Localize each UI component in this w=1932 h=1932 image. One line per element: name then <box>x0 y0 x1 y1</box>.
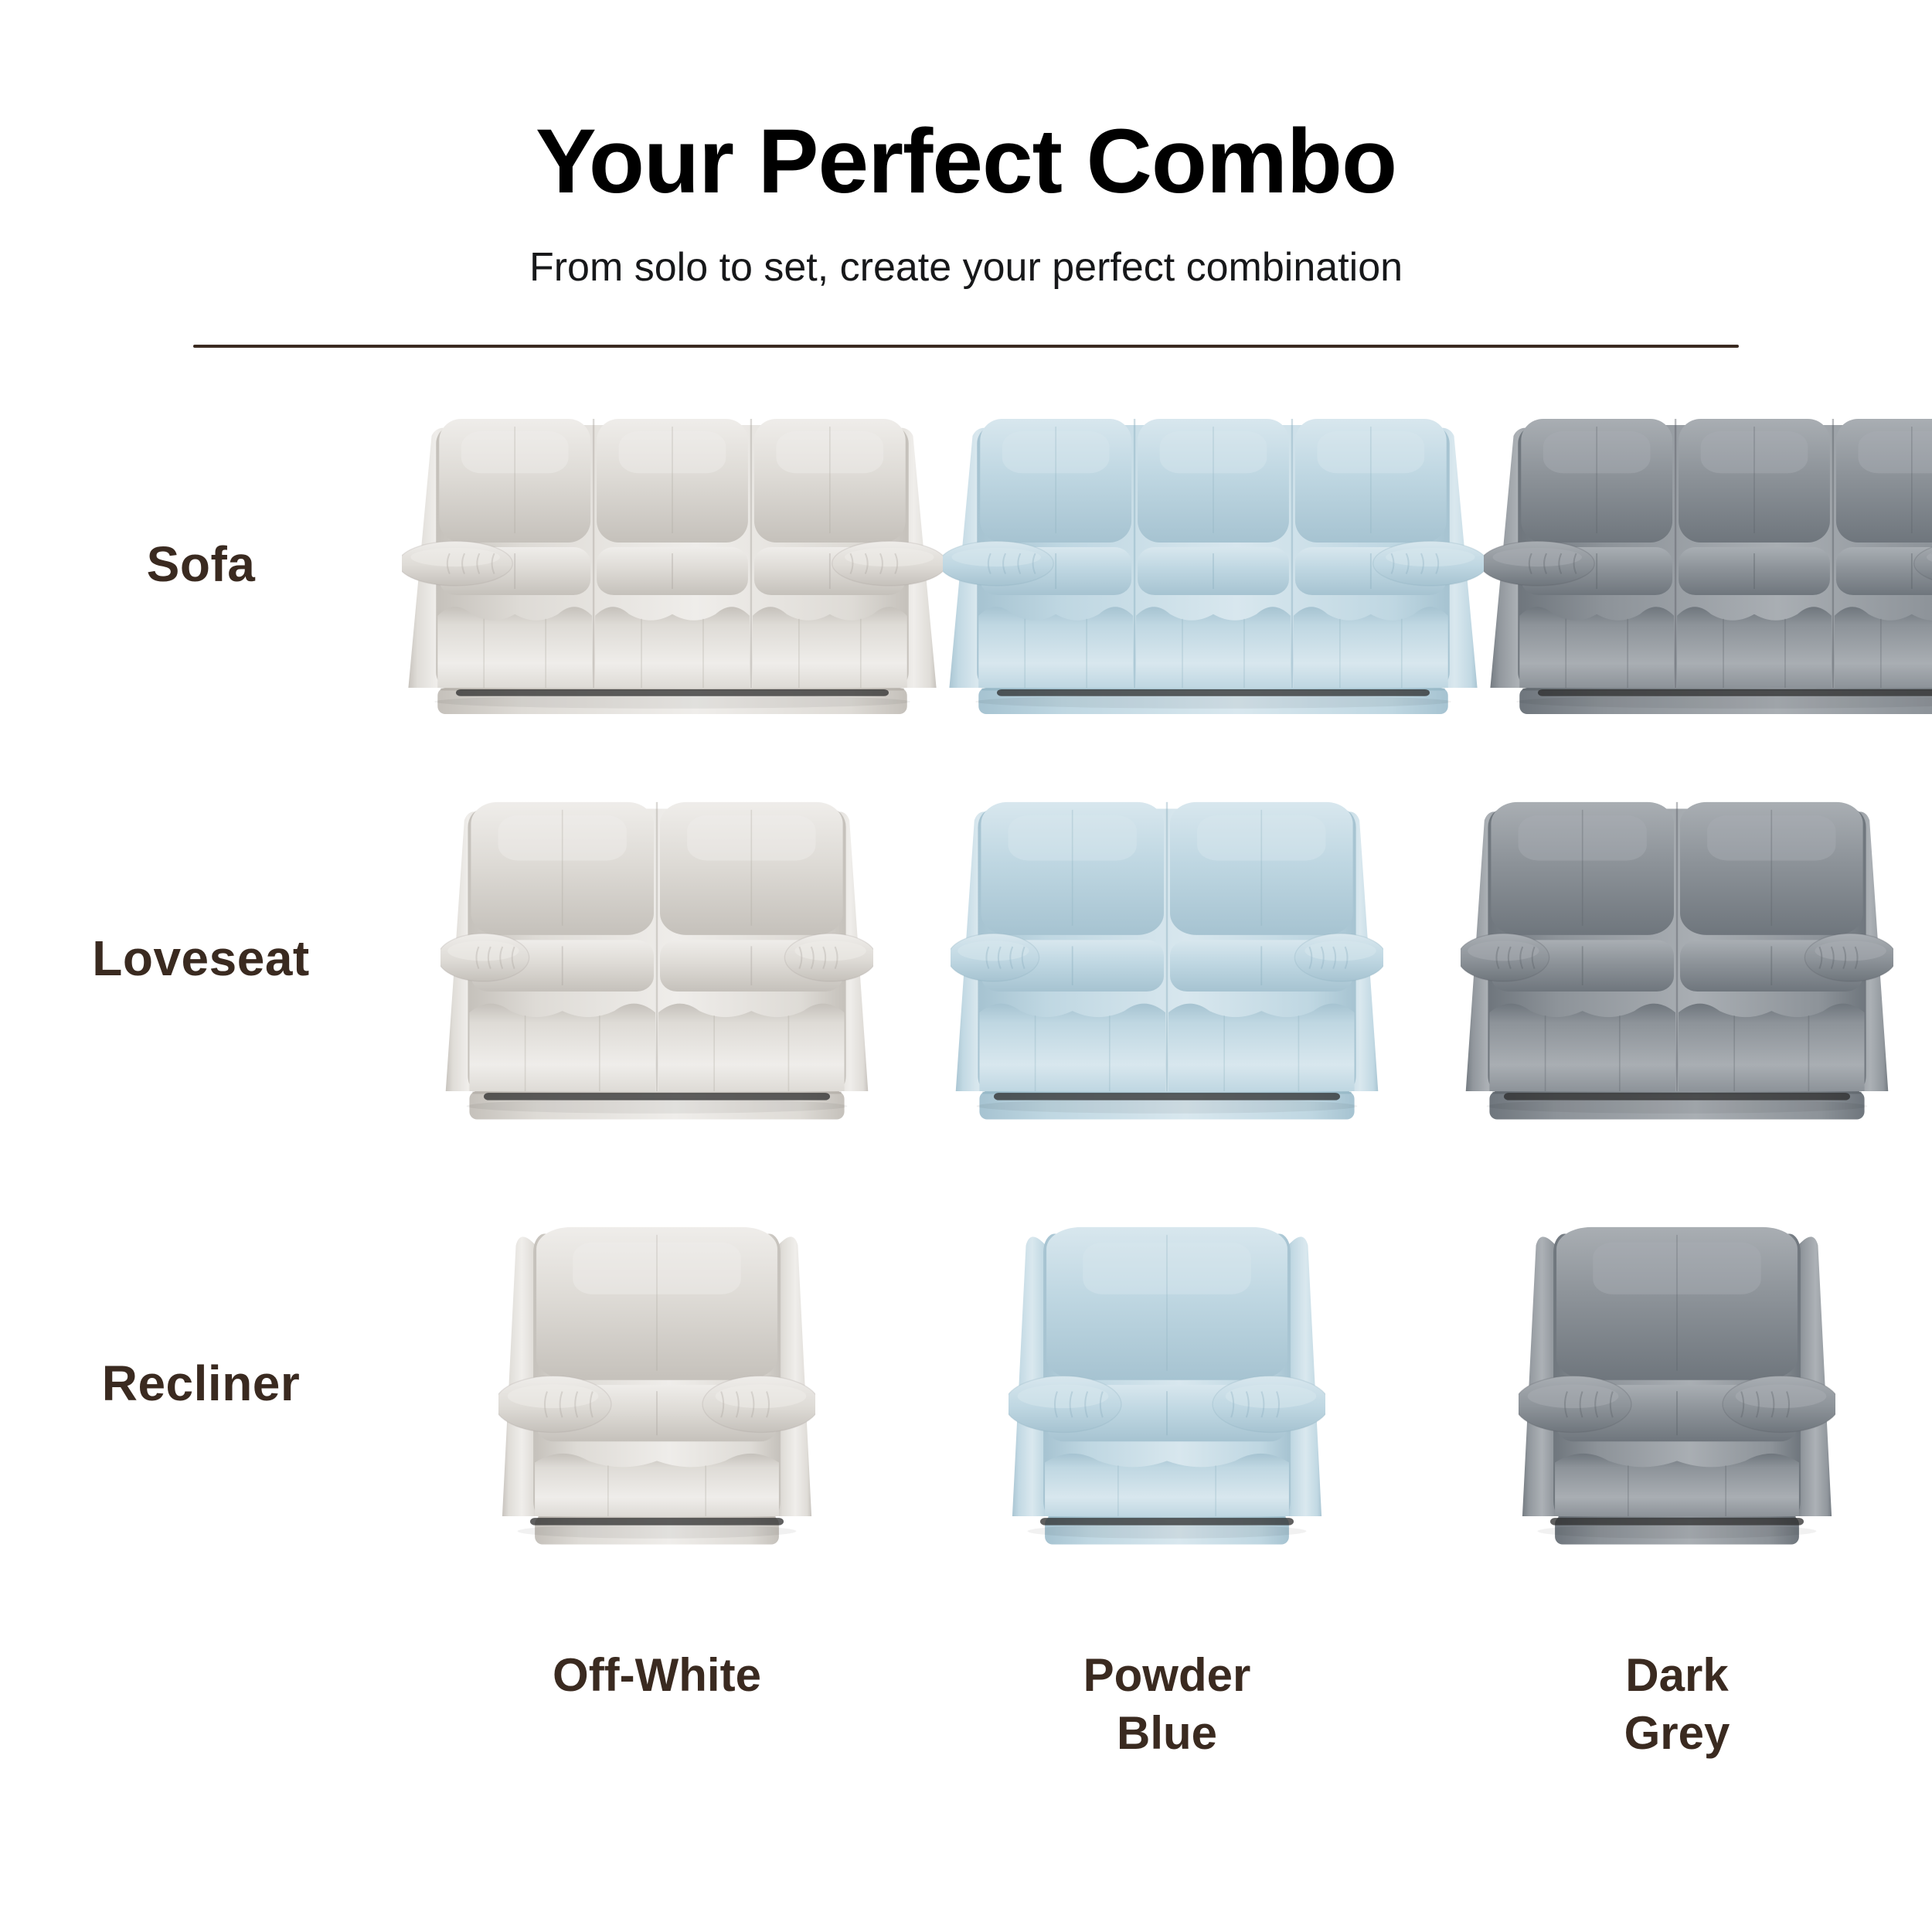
color-legend: Off-White Powder Blue Dark Grey <box>0 1646 1932 1762</box>
grid-row-loveseat: Loveseat <box>0 757 1932 1159</box>
row-cells-loveseat <box>402 792 1932 1124</box>
product-combo-page: Your Perfect Combo From solo to set, cre… <box>0 0 1932 1932</box>
color-label-off-white-line1: Off-White <box>402 1646 912 1704</box>
recliner-illustration <box>498 1217 815 1549</box>
row-label-sofa: Sofa <box>0 536 402 593</box>
cell-sofa-powder-blue[interactable] <box>943 410 1484 719</box>
cell-loveseat-dark-grey[interactable] <box>1422 792 1932 1124</box>
page-header: Your Perfect Combo From solo to set, cre… <box>0 0 1932 287</box>
cell-loveseat-powder-blue[interactable] <box>912 792 1422 1124</box>
color-label-dark-grey-line1: Dark <box>1422 1646 1932 1704</box>
color-label-dark-grey[interactable]: Dark Grey <box>1422 1646 1932 1762</box>
color-label-powder-blue-line1: Powder <box>912 1646 1422 1704</box>
product-grid: Sofa Loveseat Recliner <box>0 371 1932 1607</box>
color-label-powder-blue[interactable]: Powder Blue <box>912 1646 1422 1762</box>
loveseat-illustration <box>951 792 1383 1124</box>
cell-sofa-dark-grey[interactable] <box>1484 410 1932 719</box>
cell-recliner-off-white[interactable] <box>402 1217 912 1549</box>
legend-cells: Off-White Powder Blue Dark Grey <box>402 1646 1932 1762</box>
recliner-illustration <box>1009 1217 1325 1549</box>
color-label-powder-blue-line2: Blue <box>912 1704 1422 1762</box>
sofa-illustration <box>1484 410 1932 719</box>
row-label-recliner: Recliner <box>0 1355 402 1412</box>
color-label-dark-grey-line2: Grey <box>1422 1704 1932 1762</box>
grid-row-recliner: Recliner <box>0 1159 1932 1607</box>
grid-row-sofa: Sofa <box>0 371 1932 757</box>
color-label-off-white[interactable]: Off-White <box>402 1646 912 1762</box>
cell-recliner-powder-blue[interactable] <box>912 1217 1422 1549</box>
row-cells-sofa <box>402 410 1932 719</box>
page-title: Your Perfect Combo <box>0 116 1932 207</box>
loveseat-illustration <box>1461 792 1893 1124</box>
row-label-loveseat: Loveseat <box>0 930 402 987</box>
sofa-illustration <box>402 410 943 719</box>
row-cells-recliner <box>402 1217 1932 1549</box>
header-divider <box>193 345 1739 348</box>
sofa-illustration <box>943 410 1484 719</box>
cell-sofa-off-white[interactable] <box>402 410 943 719</box>
loveseat-illustration <box>440 792 873 1124</box>
recliner-illustration <box>1519 1217 1835 1549</box>
legend-spacer <box>0 1646 402 1762</box>
page-subtitle: From solo to set, create your perfect co… <box>0 247 1932 287</box>
cell-recliner-dark-grey[interactable] <box>1422 1217 1932 1549</box>
cell-loveseat-off-white[interactable] <box>402 792 912 1124</box>
